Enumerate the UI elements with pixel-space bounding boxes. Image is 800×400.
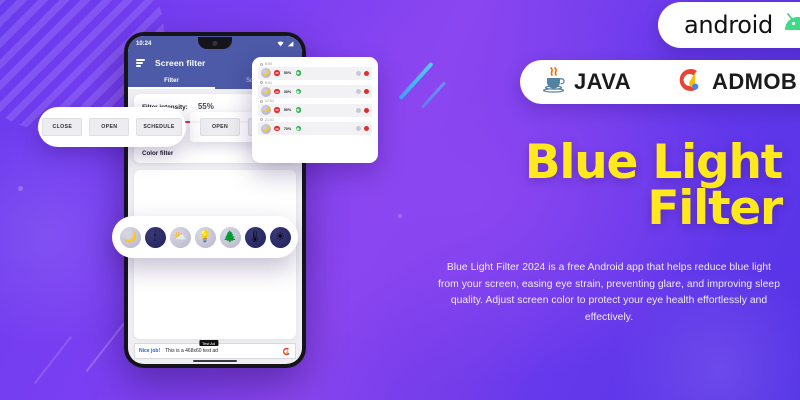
schedule-row[interactable]: 30% bbox=[258, 85, 372, 98]
schedule-time: 6:00 bbox=[265, 62, 272, 66]
thermometer-filter-icon[interactable]: 🌡 bbox=[245, 227, 266, 248]
minus-circle-icon[interactable] bbox=[274, 70, 280, 76]
java-label: JAVA bbox=[574, 69, 631, 95]
schedule-percent: 50% bbox=[283, 71, 293, 75]
schedule-time-row: 9:01 bbox=[258, 81, 372, 85]
hamburger-menu-icon[interactable] bbox=[136, 59, 145, 67]
schedule-row[interactable]: 50% bbox=[258, 104, 372, 117]
moon-icon bbox=[261, 87, 271, 97]
forest-filter-icon[interactable]: 🌲 bbox=[220, 227, 241, 248]
tab-active-indicator bbox=[128, 87, 215, 89]
hero-description: Blue Light Filter 2024 is a free Android… bbox=[436, 260, 782, 327]
close-button[interactable]: CLOSE bbox=[42, 118, 82, 136]
page-title: Blue Light Filter bbox=[430, 140, 782, 232]
schedule-row[interactable]: 70% bbox=[258, 122, 372, 135]
android-robot-icon bbox=[783, 13, 800, 37]
signal-icon bbox=[287, 41, 294, 47]
color-filter-row: 🌙 🕯 ⛅ 💡 🌲 🌡 ☀ bbox=[112, 216, 298, 258]
schedule-row[interactable]: 50% bbox=[258, 67, 372, 80]
accent-line-icon bbox=[34, 336, 73, 385]
schedule-actions bbox=[356, 89, 369, 94]
ad-banner[interactable]: Test Ad Nice job! This is a 468x60 test … bbox=[134, 343, 296, 359]
admob-item: ADMOB bbox=[677, 67, 797, 98]
gear-icon[interactable] bbox=[356, 108, 361, 113]
schedule-percent: 50% bbox=[283, 108, 293, 112]
moon-icon bbox=[261, 124, 271, 134]
accent-line-icon bbox=[398, 62, 433, 100]
java-item: JAVA bbox=[542, 66, 631, 98]
home-indicator bbox=[193, 360, 237, 362]
bulb-filter-icon[interactable]: 💡 bbox=[195, 227, 216, 248]
dot-decoration bbox=[398, 214, 402, 218]
dot-decoration bbox=[18, 186, 23, 191]
moon-filter-icon[interactable]: 🌙 bbox=[120, 227, 141, 248]
action-button-row: CLOSE OPEN SCHEDULE bbox=[38, 107, 186, 147]
schedule-panel: 6:00 50% 9:01 30% bbox=[252, 57, 378, 163]
plus-circle-icon[interactable] bbox=[296, 70, 302, 76]
tech-stack-badge: JAVA ADMOB bbox=[520, 60, 800, 104]
schedule-item: 6:00 50% bbox=[258, 62, 372, 80]
schedule-time: 9:01 bbox=[265, 81, 272, 85]
status-bar-time: 10:24 bbox=[136, 41, 151, 47]
schedule-time-row: 17:01 bbox=[258, 99, 372, 103]
delete-circle-icon[interactable] bbox=[364, 108, 369, 113]
schedule-percent: 70% bbox=[283, 127, 293, 131]
gear-icon[interactable] bbox=[356, 89, 361, 94]
delete-circle-icon[interactable] bbox=[364, 89, 369, 94]
plus-circle-icon[interactable] bbox=[296, 126, 302, 132]
cloudy-sun-filter-icon[interactable]: ⛅ bbox=[170, 227, 191, 248]
plus-circle-icon[interactable] bbox=[296, 89, 302, 95]
schedule-item: 17:01 50% bbox=[258, 99, 372, 117]
schedule-time: 21:01 bbox=[265, 118, 274, 122]
schedule-time-row: 6:00 bbox=[258, 62, 372, 66]
android-badge: android bbox=[658, 2, 800, 48]
wifi-icon bbox=[277, 41, 284, 47]
moon-icon bbox=[261, 105, 271, 115]
delete-circle-icon[interactable] bbox=[364, 71, 369, 76]
delete-circle-icon[interactable] bbox=[364, 126, 369, 131]
radio-icon[interactable] bbox=[260, 81, 263, 84]
gear-icon[interactable] bbox=[356, 71, 361, 76]
schedule-time-row: 21:01 bbox=[258, 118, 372, 122]
moon-icon bbox=[261, 68, 271, 78]
admob-logo-icon bbox=[677, 67, 703, 98]
candle-filter-icon[interactable]: 🕯 bbox=[145, 227, 166, 248]
android-badge-label: android bbox=[684, 11, 773, 39]
status-bar-icons bbox=[277, 41, 294, 47]
radio-icon[interactable] bbox=[260, 118, 263, 121]
radio-icon[interactable] bbox=[260, 100, 263, 103]
ghost-button-open[interactable]: OPEN bbox=[200, 118, 240, 136]
poster-canvas: android JAVA bbox=[0, 0, 800, 400]
plus-circle-icon[interactable] bbox=[296, 107, 302, 113]
minus-circle-icon[interactable] bbox=[274, 89, 280, 95]
admob-label: ADMOB bbox=[712, 69, 797, 95]
admob-logo-icon bbox=[282, 347, 291, 356]
minus-circle-icon[interactable] bbox=[274, 107, 280, 113]
schedule-actions bbox=[356, 126, 369, 131]
schedule-percent: 30% bbox=[283, 90, 293, 94]
ad-tag-label: Test Ad bbox=[199, 340, 218, 346]
intensity-value: 55% bbox=[198, 102, 214, 111]
sun-filter-icon[interactable]: ☀ bbox=[270, 227, 291, 248]
schedule-item: 9:01 30% bbox=[258, 81, 372, 99]
ad-text: This is a 468x60 test ad bbox=[165, 348, 218, 354]
app-title: Screen filter bbox=[155, 58, 205, 68]
radio-icon[interactable] bbox=[260, 63, 263, 66]
minus-circle-icon[interactable] bbox=[274, 126, 280, 132]
schedule-item: 21:01 70% bbox=[258, 118, 372, 136]
gear-icon[interactable] bbox=[356, 126, 361, 131]
accent-line-icon bbox=[421, 81, 446, 108]
schedule-actions bbox=[356, 71, 369, 76]
schedule-button[interactable]: SCHEDULE bbox=[136, 118, 181, 136]
schedule-actions bbox=[356, 108, 369, 113]
open-button[interactable]: OPEN bbox=[89, 118, 129, 136]
java-coffee-cup-icon bbox=[542, 66, 565, 98]
camera-notch-icon bbox=[198, 37, 232, 49]
status-bar: 10:24 bbox=[128, 36, 302, 51]
schedule-time: 17:01 bbox=[265, 99, 274, 103]
ad-link[interactable]: Nice job! bbox=[139, 348, 160, 354]
page-title-line-2: Filter bbox=[430, 186, 782, 232]
